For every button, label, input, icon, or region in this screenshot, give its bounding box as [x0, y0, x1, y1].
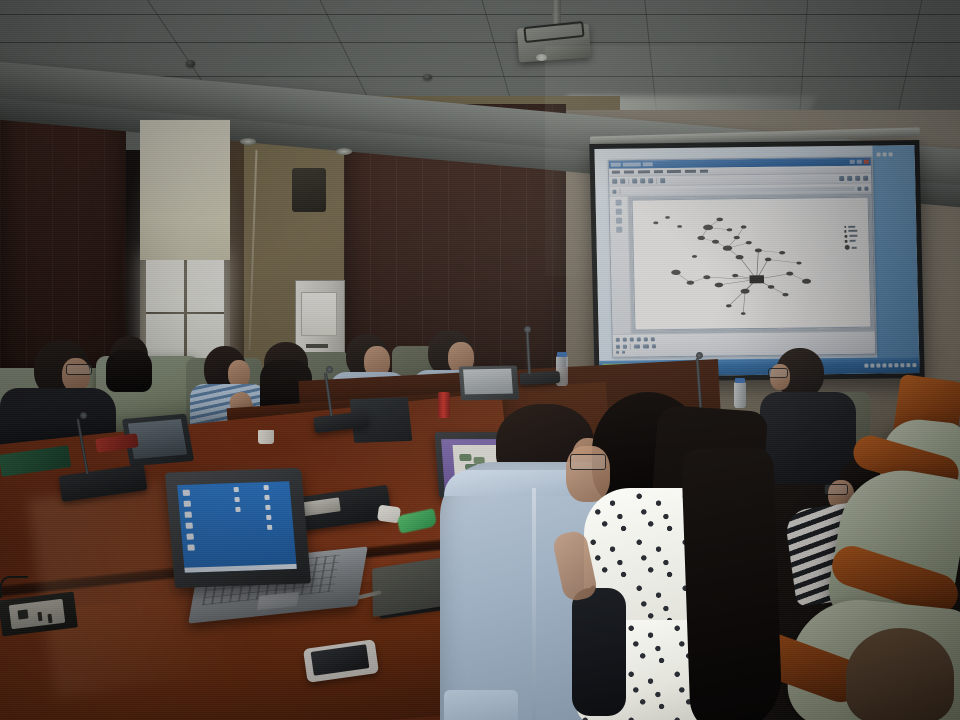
- head: [846, 628, 954, 720]
- graph-node[interactable]: [692, 255, 697, 258]
- glasses-icon: [570, 454, 606, 470]
- toolbar-icon[interactable]: [847, 176, 852, 181]
- toolbar-icon[interactable]: [612, 190, 616, 194]
- hair-ponytail: [681, 446, 783, 720]
- desktop-icon-column[interactable]: [234, 487, 241, 512]
- graph-node[interactable]: [736, 255, 744, 260]
- glasses-icon: [768, 368, 788, 378]
- graph-canvas-container: [629, 194, 875, 334]
- titlebar-text: [643, 163, 653, 167]
- menu-item[interactable]: [667, 170, 681, 173]
- tray-icon[interactable]: [888, 363, 892, 367]
- graph-node[interactable]: [665, 216, 670, 219]
- titlebar-text: [623, 163, 641, 167]
- shirt-seam: [532, 488, 536, 720]
- graph-node[interactable]: [741, 226, 747, 229]
- toolbar-icon[interactable]: [632, 179, 637, 184]
- graph-node[interactable]: [653, 222, 658, 225]
- graph-node[interactable]: [786, 272, 793, 276]
- conference-microphone[interactable]: [520, 371, 561, 385]
- projector-lens-icon: [536, 54, 547, 61]
- desktop-icon-column[interactable]: [183, 490, 195, 551]
- coke-can[interactable]: [438, 392, 450, 418]
- hair: [106, 350, 152, 392]
- glasses-icon: [824, 484, 848, 495]
- microphone-head: [326, 366, 333, 373]
- graph-hub-spoke: [756, 251, 759, 280]
- status-icon: [616, 351, 619, 354]
- power-cable: [0, 576, 28, 598]
- toolbar-icon[interactable]: [648, 179, 653, 184]
- status-icon: [622, 351, 625, 354]
- graph-edges: [675, 219, 808, 315]
- document-thumbnail: [460, 454, 472, 461]
- tray-icon[interactable]: [864, 364, 868, 368]
- desktop-icon[interactable]: [263, 485, 268, 490]
- toolbar-icon[interactable]: [865, 187, 869, 191]
- toolbar-divider: [619, 189, 620, 195]
- graph-canvas[interactable]: [632, 197, 872, 331]
- close-icon[interactable]: [864, 160, 869, 164]
- shirt-pocket: [444, 690, 518, 720]
- network-graph-application[interactable]: [607, 157, 876, 358]
- desktop-wallpaper: [873, 145, 919, 357]
- toolbar-icon[interactable]: [858, 187, 862, 191]
- toolbar-icon[interactable]: [660, 179, 665, 184]
- graph-hub-node[interactable]: [750, 276, 765, 284]
- toolbar-icon[interactable]: [612, 179, 617, 184]
- status-icon[interactable]: [623, 345, 627, 349]
- bottle-cap[interactable]: [735, 378, 745, 383]
- desktop-icon[interactable]: [234, 497, 239, 502]
- graph-node[interactable]: [746, 241, 752, 244]
- status-icon[interactable]: [616, 345, 620, 349]
- network-graph[interactable]: [632, 197, 872, 331]
- laptop-screen[interactable]: [177, 481, 297, 573]
- toolbar-icon[interactable]: [640, 179, 645, 184]
- ceiling-speaker-icon: [186, 60, 195, 67]
- status-icon[interactable]: [623, 338, 627, 342]
- toolbar-icon[interactable]: [620, 179, 625, 184]
- status-icon[interactable]: [644, 337, 648, 341]
- graph-node[interactable]: [698, 236, 706, 240]
- desktop-icon[interactable]: [234, 487, 239, 492]
- status-icon[interactable]: [652, 344, 656, 348]
- status-icon[interactable]: [637, 337, 641, 341]
- desktop-icon[interactable]: [184, 512, 192, 518]
- toolbar-search-input[interactable]: [623, 187, 854, 194]
- desktop-icon[interactable]: [186, 534, 194, 540]
- legend-item: [844, 230, 858, 233]
- toolbar-icon[interactable]: [863, 176, 868, 181]
- graph-node[interactable]: [734, 236, 740, 239]
- titlebar-icon: [611, 163, 621, 167]
- graph-node[interactable]: [765, 258, 772, 262]
- graph-node[interactable]: [671, 270, 681, 275]
- bottle-cap[interactable]: [557, 352, 567, 357]
- graph-node[interactable]: [726, 305, 732, 308]
- window-roller-blind[interactable]: [140, 120, 230, 260]
- graph-node[interactable]: [727, 229, 733, 232]
- downlight-icon: [336, 148, 352, 155]
- paper-cup[interactable]: [258, 430, 274, 444]
- status-icon[interactable]: [643, 344, 649, 348]
- menu-item[interactable]: [612, 171, 620, 174]
- graph-node[interactable]: [797, 262, 802, 265]
- graph-node[interactable]: [717, 218, 724, 222]
- dark-skirt: [572, 588, 626, 716]
- maximize-icon[interactable]: [857, 160, 862, 164]
- legend-item: [844, 226, 855, 228]
- graph-node[interactable]: [687, 281, 695, 285]
- laptop-screen: [463, 369, 513, 395]
- application-body: [609, 194, 874, 334]
- wall-speaker-icon: [292, 168, 326, 212]
- microphone-head: [80, 412, 87, 419]
- legend-item: [845, 245, 857, 250]
- status-icon[interactable]: [634, 344, 640, 348]
- sidebar-icon[interactable]: [616, 218, 622, 224]
- socket-hole[interactable]: [17, 609, 28, 619]
- toolbar-divider: [656, 178, 657, 184]
- tray-icon[interactable]: [870, 364, 874, 368]
- cabinet-panel: [301, 292, 337, 336]
- tray-icon[interactable]: [894, 363, 898, 367]
- system-tray[interactable]: [864, 363, 916, 368]
- cabinet-handle[interactable]: [306, 344, 328, 348]
- toolbar-icon[interactable]: [839, 176, 844, 181]
- graph-hub-spokes: [706, 250, 790, 306]
- desktop-icon[interactable]: [187, 544, 195, 550]
- downlight-icon: [240, 138, 256, 145]
- status-icon[interactable]: [630, 337, 634, 341]
- desktop-icon[interactable]: [264, 495, 269, 500]
- glasses-icon: [66, 364, 92, 375]
- graph-hub-spoke: [707, 277, 757, 280]
- tray-icon[interactable]: [900, 363, 904, 367]
- desktop-icon[interactable]: [266, 515, 271, 520]
- desktop-icon[interactable]: [882, 152, 886, 156]
- microphone-head: [524, 326, 531, 333]
- desktop-icon[interactable]: [267, 525, 272, 530]
- status-icon[interactable]: [650, 337, 654, 341]
- sidebar-icon[interactable]: [616, 227, 622, 233]
- tray-icon[interactable]: [882, 363, 886, 367]
- desktop-icon[interactable]: [183, 490, 191, 496]
- graph-node[interactable]: [802, 279, 811, 284]
- tray-icon[interactable]: [912, 363, 916, 367]
- menu-item[interactable]: [654, 171, 663, 174]
- graph-node[interactable]: [755, 249, 762, 253]
- graph-node[interactable]: [703, 276, 710, 280]
- microphone-head: [696, 352, 703, 359]
- sidebar-icon[interactable]: [616, 209, 622, 215]
- graph-node[interactable]: [732, 274, 738, 277]
- window-mullion: [146, 312, 224, 314]
- graph-node[interactable]: [715, 283, 724, 288]
- graph-edge: [743, 292, 746, 314]
- graph-hub-node[interactable]: [750, 276, 765, 284]
- minimize-icon[interactable]: [850, 160, 855, 164]
- graph-edge: [759, 251, 783, 254]
- desktop-icons-group[interactable]: [876, 152, 908, 171]
- graph-node[interactable]: [703, 225, 713, 231]
- graph-nodes[interactable]: [653, 215, 812, 317]
- desktop-icon[interactable]: [888, 152, 892, 156]
- status-divider: [630, 344, 631, 350]
- menu-item[interactable]: [700, 170, 708, 173]
- desktop-icon-column[interactable]: [263, 485, 272, 530]
- application-status-bars[interactable]: [612, 331, 875, 357]
- graph-edge: [768, 259, 799, 263]
- menu-item[interactable]: [638, 171, 650, 174]
- graph-node[interactable]: [741, 313, 746, 316]
- projection-screen-surface: [594, 145, 919, 377]
- graph-node[interactable]: [677, 226, 682, 229]
- desktop-icon[interactable]: [184, 501, 192, 507]
- desktop-icon[interactable]: [876, 152, 880, 156]
- water-bottle[interactable]: [734, 382, 746, 408]
- sidebar-icon[interactable]: [616, 200, 622, 206]
- toolbar-icon[interactable]: [855, 176, 860, 181]
- toolbar-divider: [628, 178, 629, 184]
- desktop-icon[interactable]: [265, 505, 270, 510]
- desktop-icon[interactable]: [235, 507, 240, 512]
- window-mullion: [184, 258, 187, 370]
- ceiling-speaker-icon: [423, 74, 432, 80]
- menu-item[interactable]: [624, 171, 634, 174]
- projection-screen: [589, 140, 924, 382]
- graph-legend: [844, 226, 858, 250]
- menu-item[interactable]: [685, 170, 696, 173]
- legend-item: [844, 234, 857, 237]
- desktop-icon[interactable]: [185, 523, 193, 529]
- graph-node[interactable]: [779, 251, 785, 254]
- status-icon[interactable]: [616, 338, 620, 342]
- tray-icon[interactable]: [876, 364, 880, 368]
- conference-room-photo: [0, 0, 960, 720]
- tray-icon[interactable]: [906, 363, 910, 367]
- legend-item: [844, 240, 856, 244]
